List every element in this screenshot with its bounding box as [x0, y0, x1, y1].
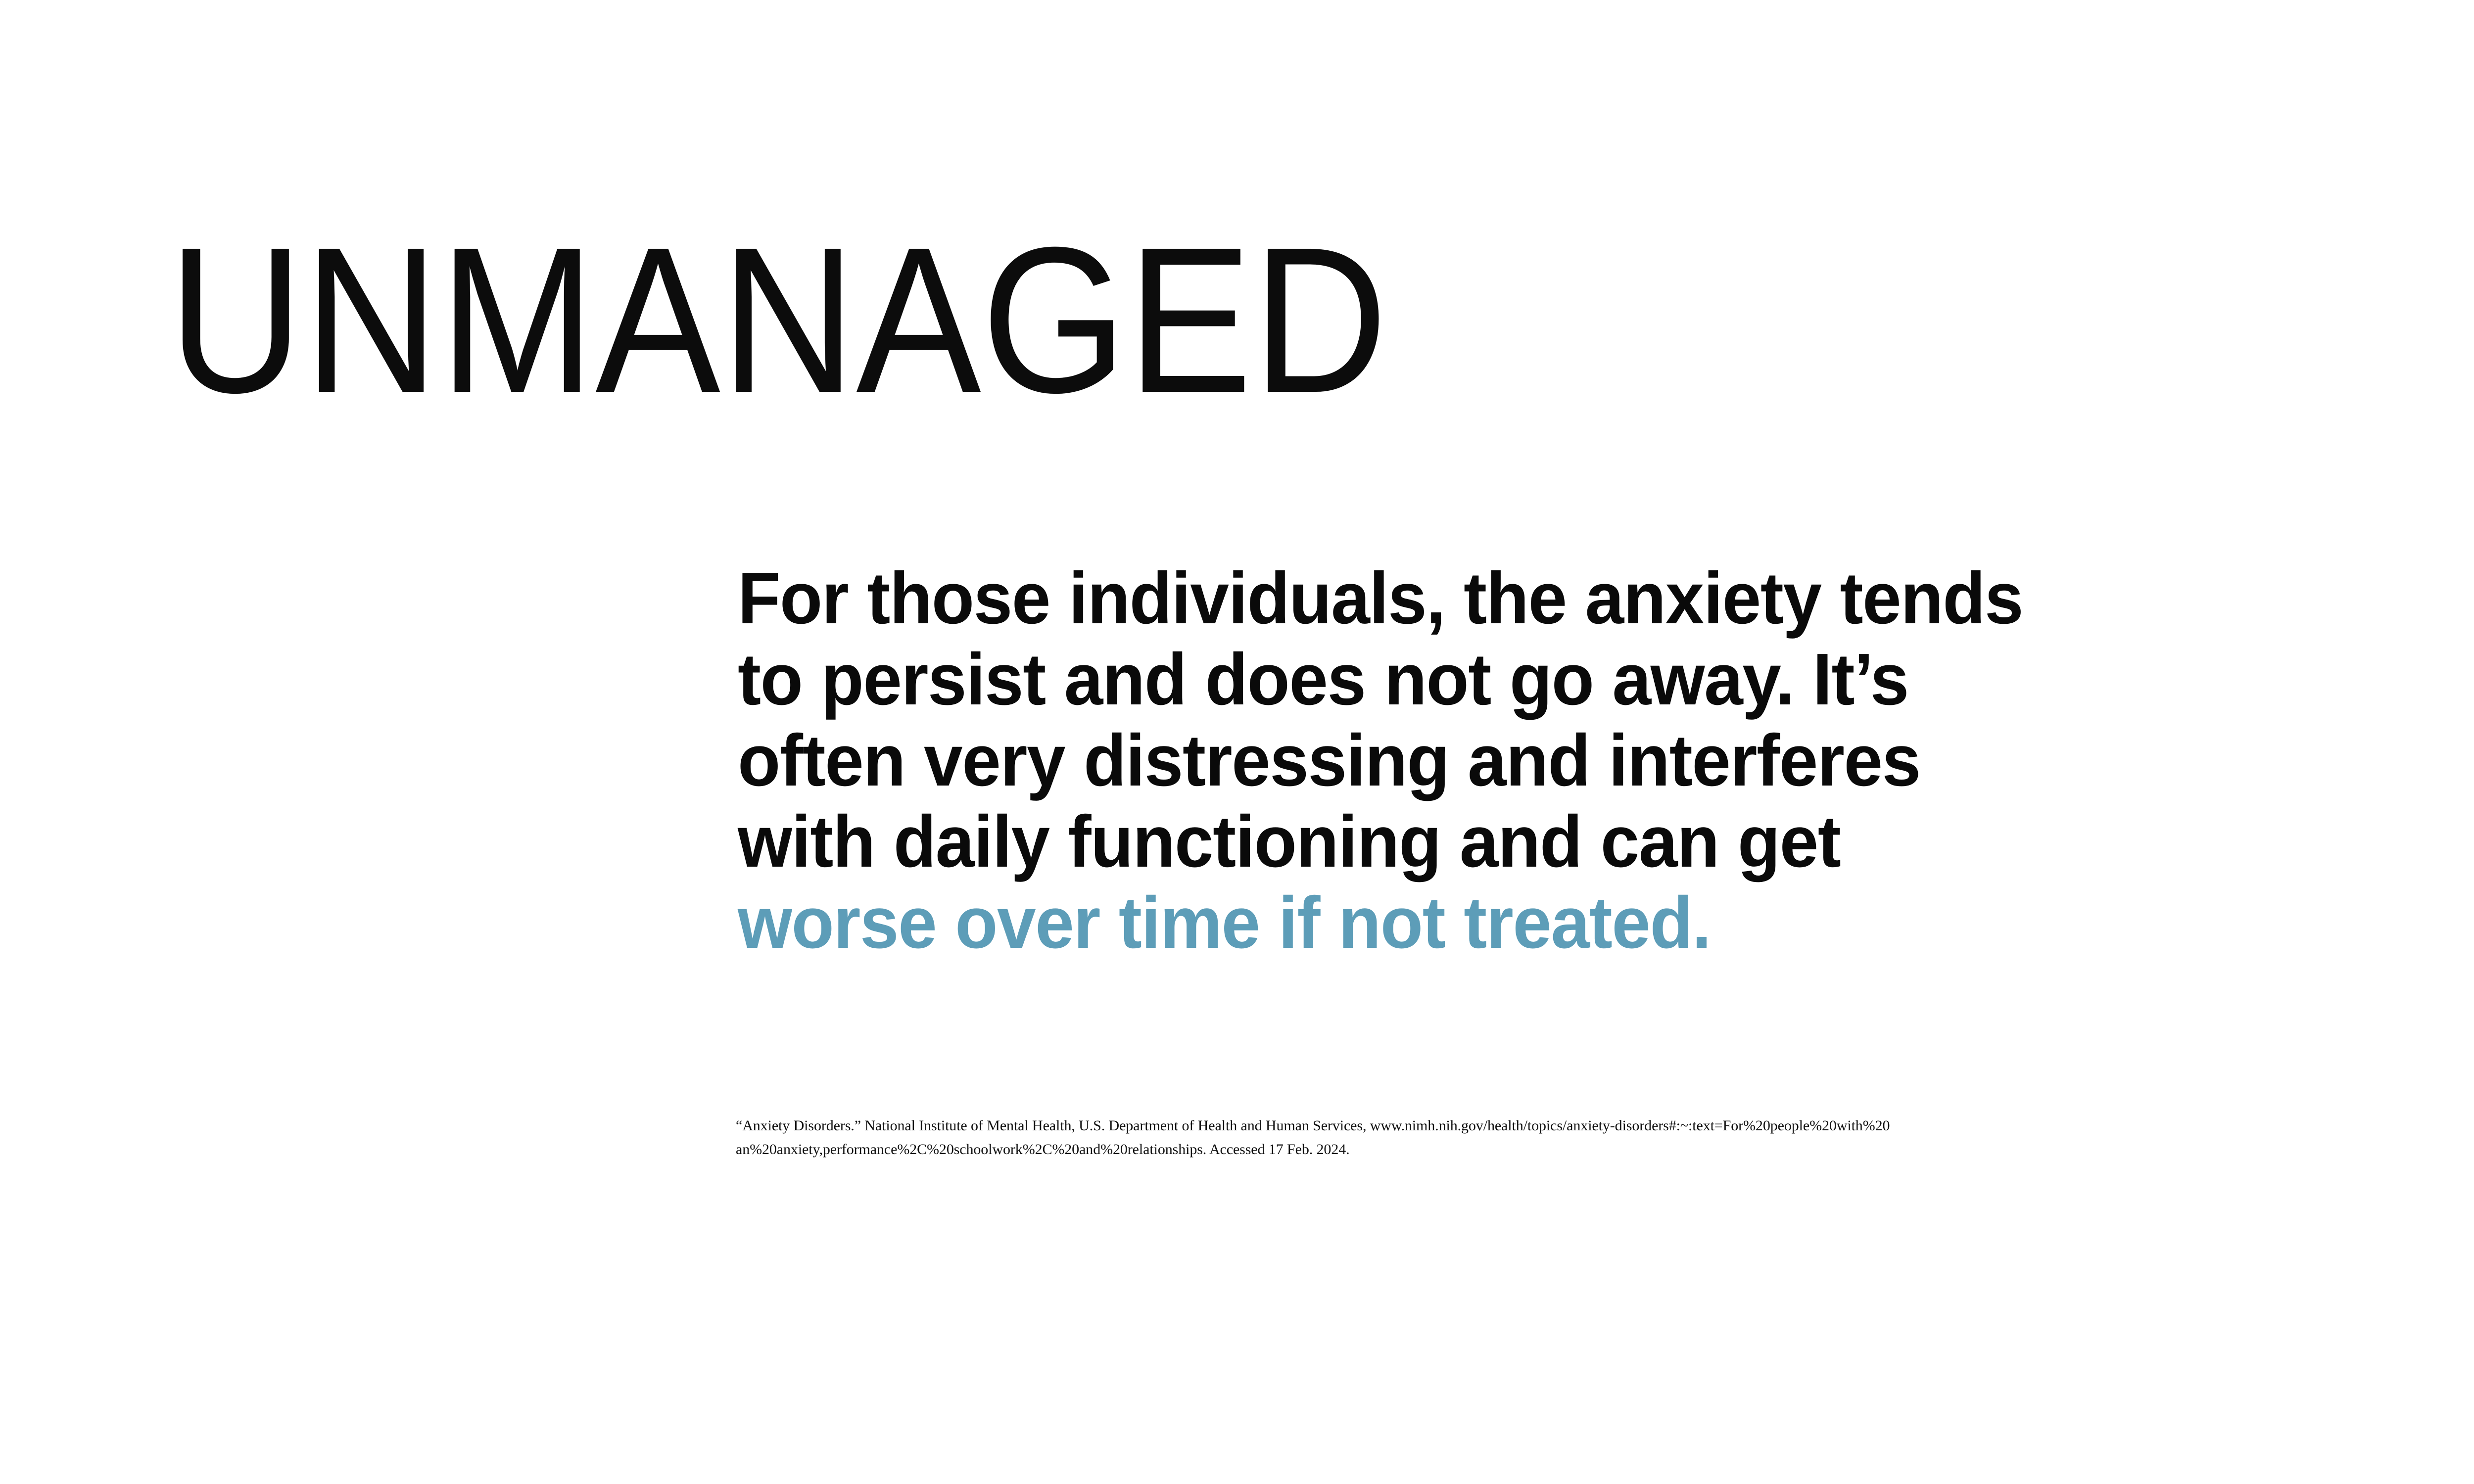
- page-title: UNMANAGED: [168, 222, 1388, 419]
- body-line-3: often very distressing and interferes: [738, 720, 1985, 801]
- body-line-1: For those individuals, the anxiety tends: [738, 558, 1985, 639]
- body-line-5-accent: worse over time if not treated.: [738, 882, 1985, 964]
- body-line-2: to persist and does not go away. It’s: [738, 639, 1985, 720]
- citation-line-2: an%20anxiety,performance%2C%20schoolwork…: [736, 1138, 2027, 1161]
- slide-canvas: UNMANAGED For those individuals, the anx…: [0, 0, 2474, 1484]
- body-paragraph: For those individuals, the anxiety tends…: [738, 558, 2044, 964]
- citation-line-1: “Anxiety Disorders.” National Institute …: [736, 1114, 2027, 1138]
- citation-block: “Anxiety Disorders.” National Institute …: [736, 1114, 2027, 1161]
- body-line-4: with daily functioning and can get: [738, 801, 1985, 882]
